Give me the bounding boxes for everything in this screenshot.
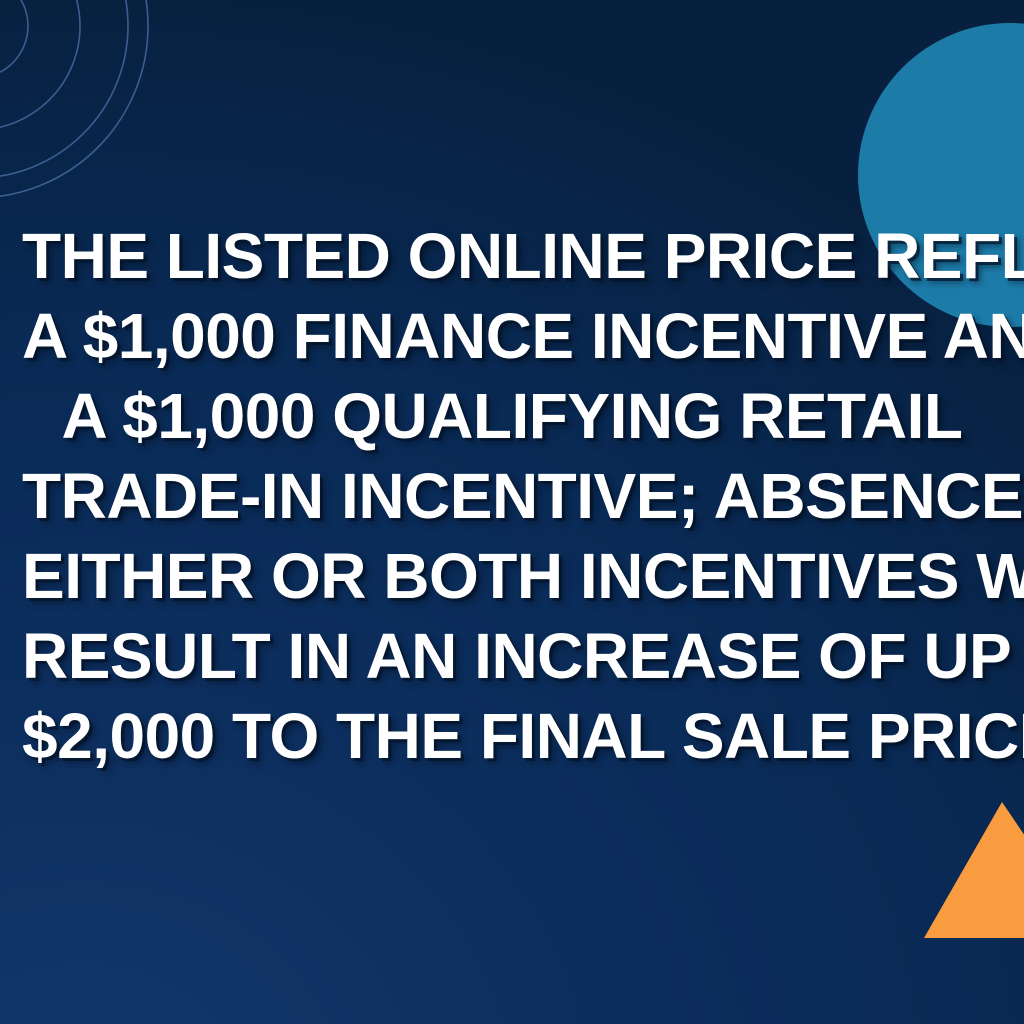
headline-line-6: RESULT IN AN INCREASE OF UP TO bbox=[22, 616, 1002, 696]
graphic-canvas: THE LISTED ONLINE PRICE REFLECTS A $1,00… bbox=[0, 0, 1024, 1024]
headline-line-4: TRADE-IN INCENTIVE; ABSENCE OF bbox=[22, 456, 1002, 536]
accent-triangle-icon bbox=[924, 802, 1024, 938]
headline-line-5: EITHER OR BOTH INCENTIVES WILL bbox=[22, 536, 1002, 616]
headline-line-3: A $1,000 QUALIFYING RETAIL bbox=[22, 376, 1002, 456]
disclaimer-headline: THE LISTED ONLINE PRICE REFLECTS A $1,00… bbox=[0, 216, 1024, 776]
headline-line-1: THE LISTED ONLINE PRICE REFLECTS bbox=[22, 216, 1002, 296]
headline-line-7: $2,000 TO THE FINAL SALE PRICE. bbox=[22, 696, 1002, 776]
headline-line-2: A $1,000 FINANCE INCENTIVE AND bbox=[22, 296, 1002, 376]
